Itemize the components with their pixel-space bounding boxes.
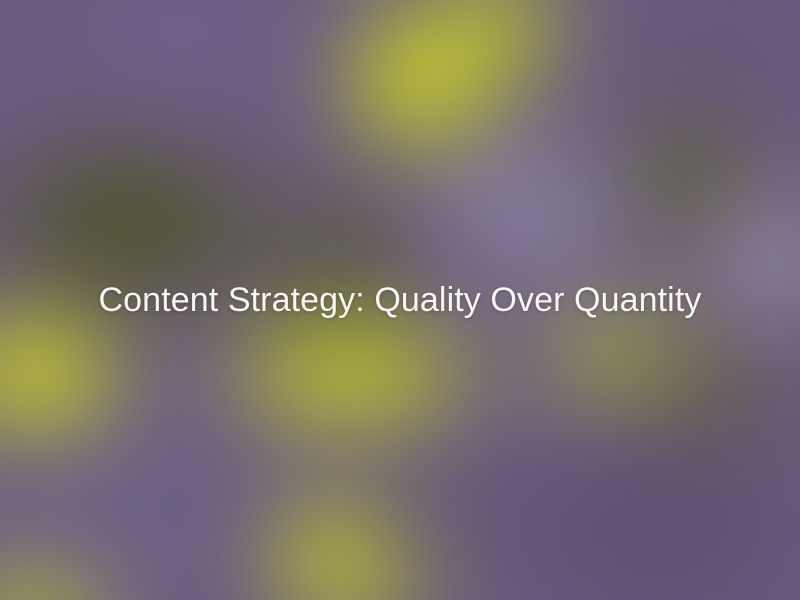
page-title: Content Strategy: Quality Over Quantity bbox=[99, 279, 702, 322]
hero-banner: Content Strategy: Quality Over Quantity bbox=[0, 0, 800, 600]
title-layer: Content Strategy: Quality Over Quantity bbox=[0, 0, 800, 600]
